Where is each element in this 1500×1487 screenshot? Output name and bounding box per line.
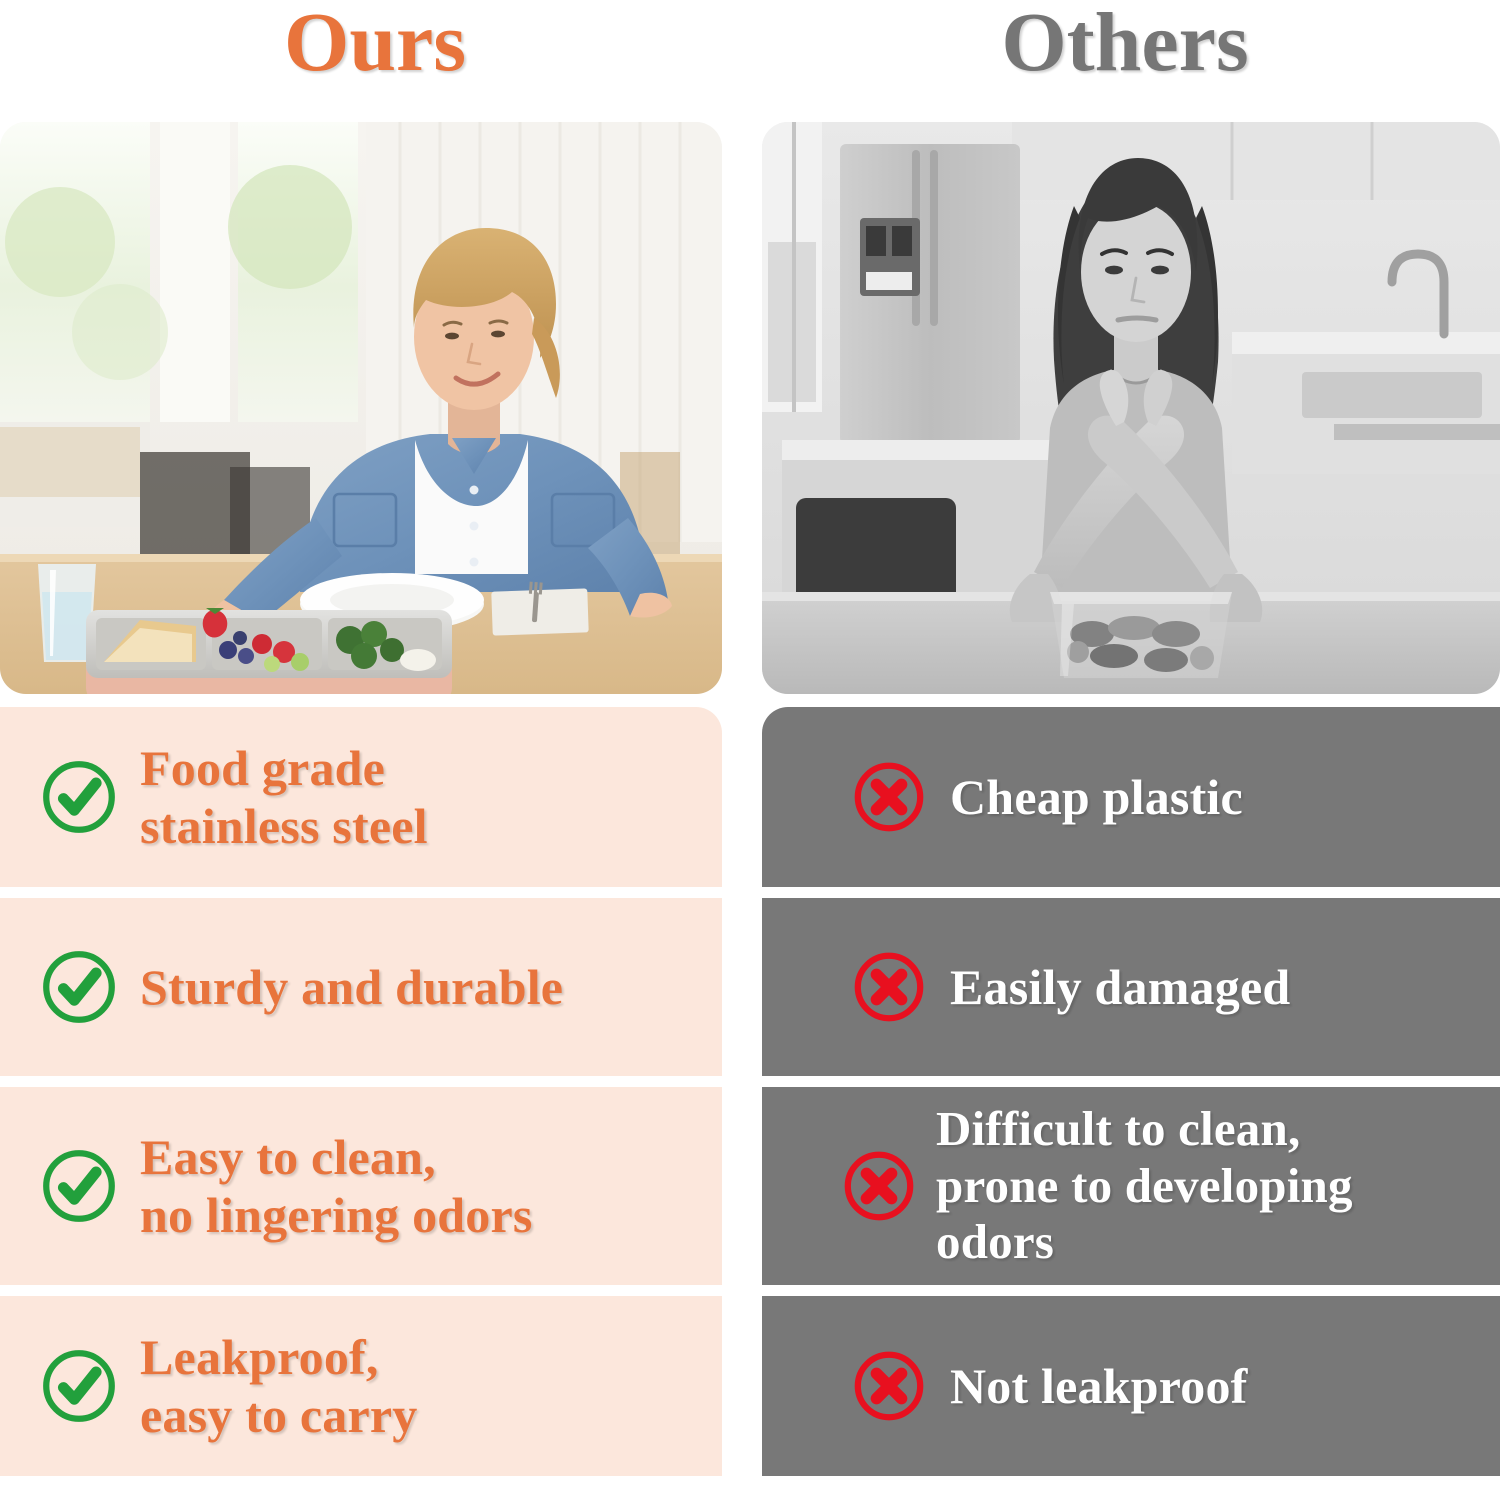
photo-ours-lifestyle — [0, 122, 722, 694]
feature-label-ours: Sturdy and durable — [140, 958, 563, 1017]
feature-cell-ours: Easy to clean, no lingering odors — [0, 1087, 722, 1285]
photo-others-illustration — [762, 122, 1500, 694]
check-circle-icon — [40, 948, 118, 1026]
cross-circle-icon — [850, 948, 928, 1026]
heading-cell-others: Others — [750, 0, 1500, 105]
cross-circle-icon — [850, 758, 928, 836]
feature-cell-ours: Sturdy and durable — [0, 898, 722, 1076]
feature-label-ours: Food grade stainless steel — [140, 739, 428, 856]
feature-label-others: Not leakproof — [950, 1357, 1248, 1416]
feature-cell-others: Difficult to clean, prone to developing … — [762, 1087, 1500, 1285]
page-title-ours: Ours — [284, 0, 466, 86]
photo-others-lifestyle — [762, 122, 1500, 694]
cross-circle-icon — [840, 1147, 918, 1225]
photo-row — [0, 122, 1500, 694]
feature-row: Sturdy and durable Easily damaged — [0, 898, 1500, 1076]
feature-label-others: Easily damaged — [950, 958, 1290, 1017]
feature-label-ours: Leakproof, easy to carry — [140, 1328, 417, 1445]
check-circle-icon — [40, 758, 118, 836]
feature-cell-others: Easily damaged — [762, 898, 1500, 1076]
cross-circle-icon — [850, 1347, 928, 1425]
check-circle-icon — [40, 1147, 118, 1225]
feature-cell-ours: Leakproof, easy to carry — [0, 1296, 722, 1476]
feature-label-others: Cheap plastic — [950, 768, 1243, 827]
feature-cell-others: Not leakproof — [762, 1296, 1500, 1476]
feature-label-others: Difficult to clean, prone to developing … — [936, 1101, 1353, 1271]
comparison-headings: Ours Others — [0, 0, 1500, 105]
feature-label-ours: Easy to clean, no lingering odors — [140, 1128, 533, 1245]
feature-comparison-list: Food grade stainless steel Cheap plastic… — [0, 707, 1500, 1487]
feature-row: Leakproof, easy to carry Not leakproof — [0, 1296, 1500, 1476]
heading-cell-ours: Ours — [0, 0, 750, 105]
feature-cell-ours: Food grade stainless steel — [0, 707, 722, 887]
check-circle-icon — [40, 1347, 118, 1425]
feature-cell-others: Cheap plastic — [762, 707, 1500, 887]
feature-row: Food grade stainless steel Cheap plastic — [0, 707, 1500, 887]
page-title-others: Others — [1001, 0, 1248, 86]
feature-row: Easy to clean, no lingering odors Diffic… — [0, 1087, 1500, 1285]
photo-ours-illustration — [0, 122, 722, 694]
